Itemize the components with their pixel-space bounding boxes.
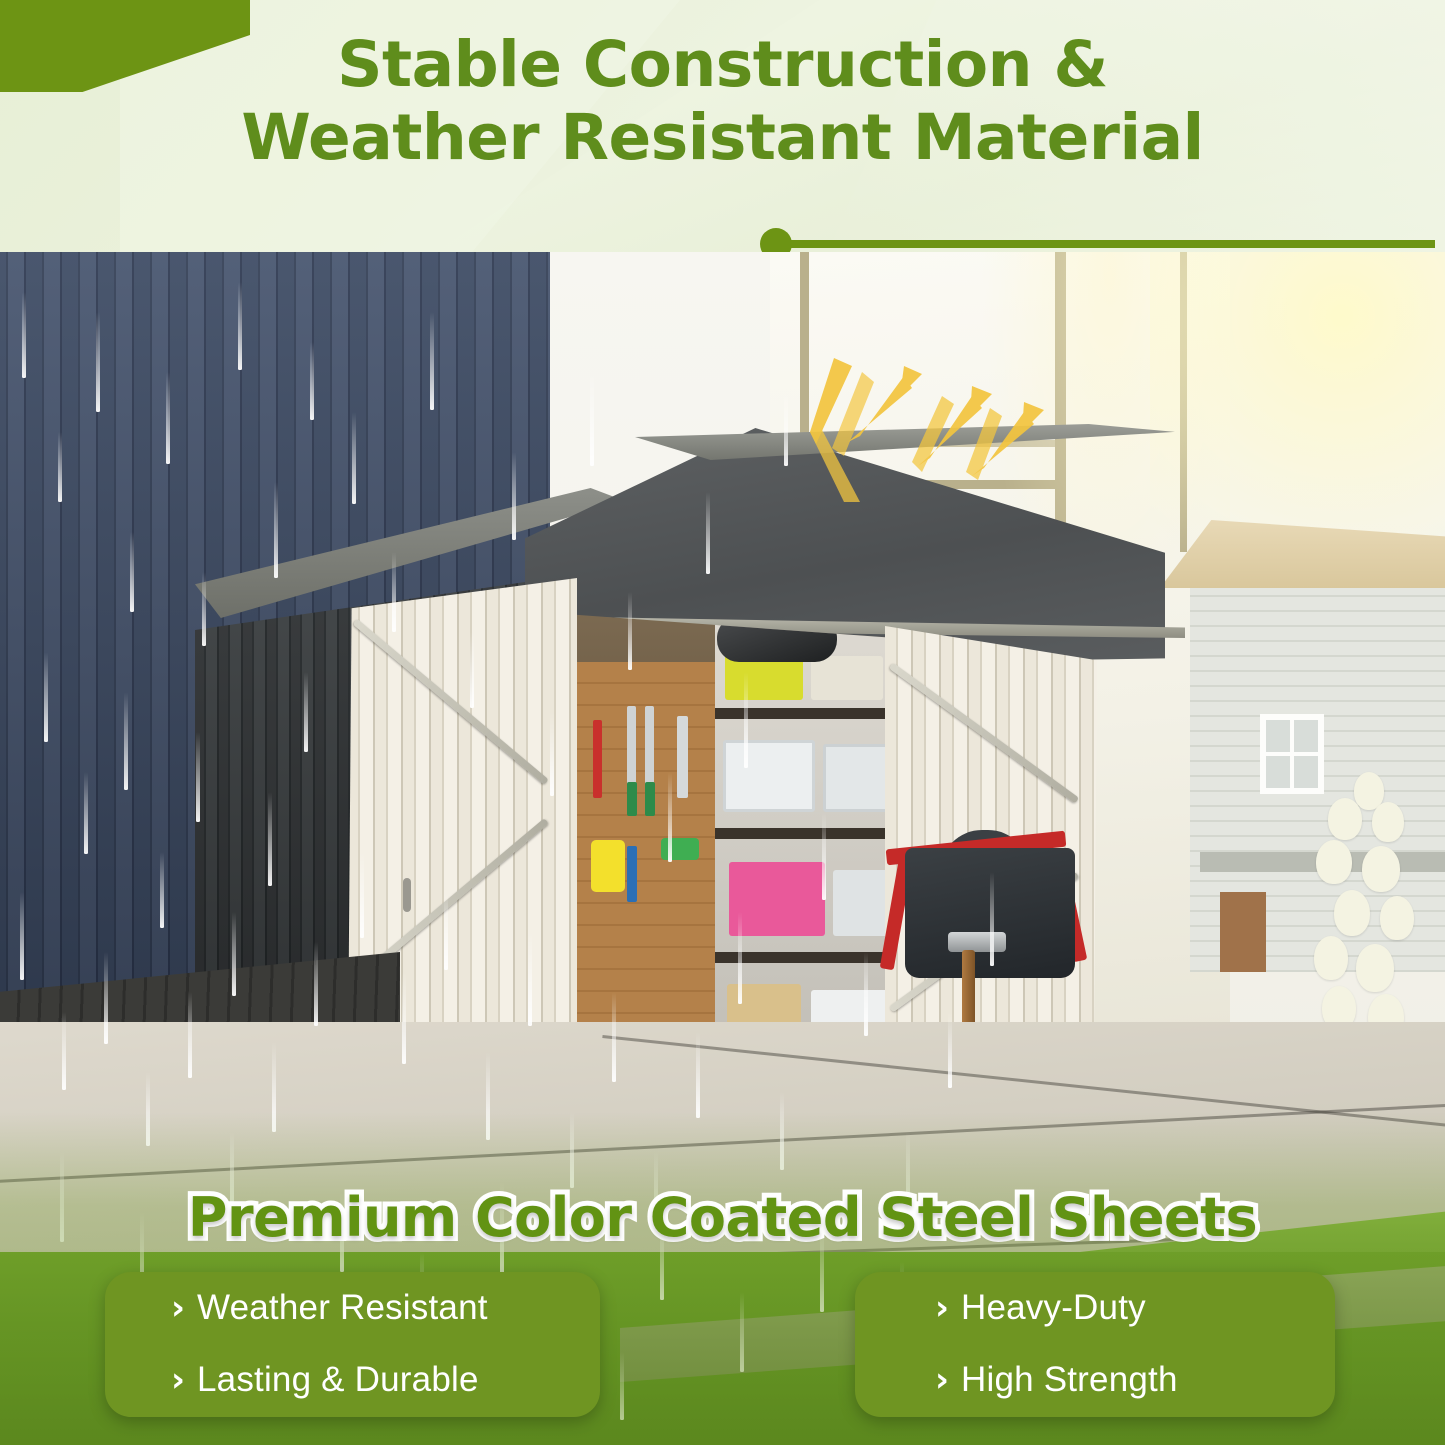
product-scene [0,252,1445,1445]
feature-label: Weather Resistant [197,1288,488,1328]
tool-handle [627,782,637,816]
hammer-head-icon [948,932,1006,952]
chevron-right-icon: › [171,1363,197,1397]
title-line-2: Weather Resistant Material [0,101,1445,174]
feature-label: Lasting & Durable [197,1360,479,1400]
feature-list-left: › Weather Resistant › Lasting & Durable [105,1272,600,1417]
storage-bin [723,740,815,812]
feature-list-right: › Heavy-Duty › High Strength [855,1272,1335,1417]
shelf [715,952,895,963]
door-diagonal-brace [353,619,549,785]
header-banner: Stable Construction & Weather Resistant … [0,0,1445,258]
door-handle[interactable] [403,878,411,912]
tool-handle [645,782,655,816]
shelf [715,708,895,719]
feature-item: › Heavy-Duty [855,1272,1335,1344]
storage-box [811,656,883,700]
feature-item: › Weather Resistant [105,1272,600,1344]
trowel-tool [677,716,688,798]
chevron-right-icon: › [171,1291,197,1325]
feature-item: › Lasting & Durable [105,1344,600,1416]
feature-item: › High Strength [855,1344,1335,1416]
water-deflection-arrow-icon [800,352,1100,512]
storage-bin [833,870,889,936]
spray-nozzle [661,838,699,860]
page-title: Stable Construction & Weather Resistant … [0,28,1445,174]
chevron-right-icon: › [935,1291,961,1325]
work-gloves [591,840,625,892]
hand-tool [627,846,637,902]
storage-bin [823,744,889,812]
subheadline: Premium Color Coated Steel Sheets [0,1186,1445,1249]
door-diagonal-brace [889,663,1079,804]
hand-tool [593,720,602,798]
header-divider-rule [775,240,1435,248]
marketing-banner: Stable Construction & Weather Resistant … [0,0,1445,1445]
chevron-right-icon: › [935,1363,961,1397]
shelf [715,828,895,839]
title-line-1: Stable Construction & [337,28,1108,101]
feature-label: Heavy-Duty [961,1288,1146,1328]
pink-storage-tote [729,862,825,936]
feature-label: High Strength [961,1360,1178,1400]
tool-bag [905,848,1075,978]
